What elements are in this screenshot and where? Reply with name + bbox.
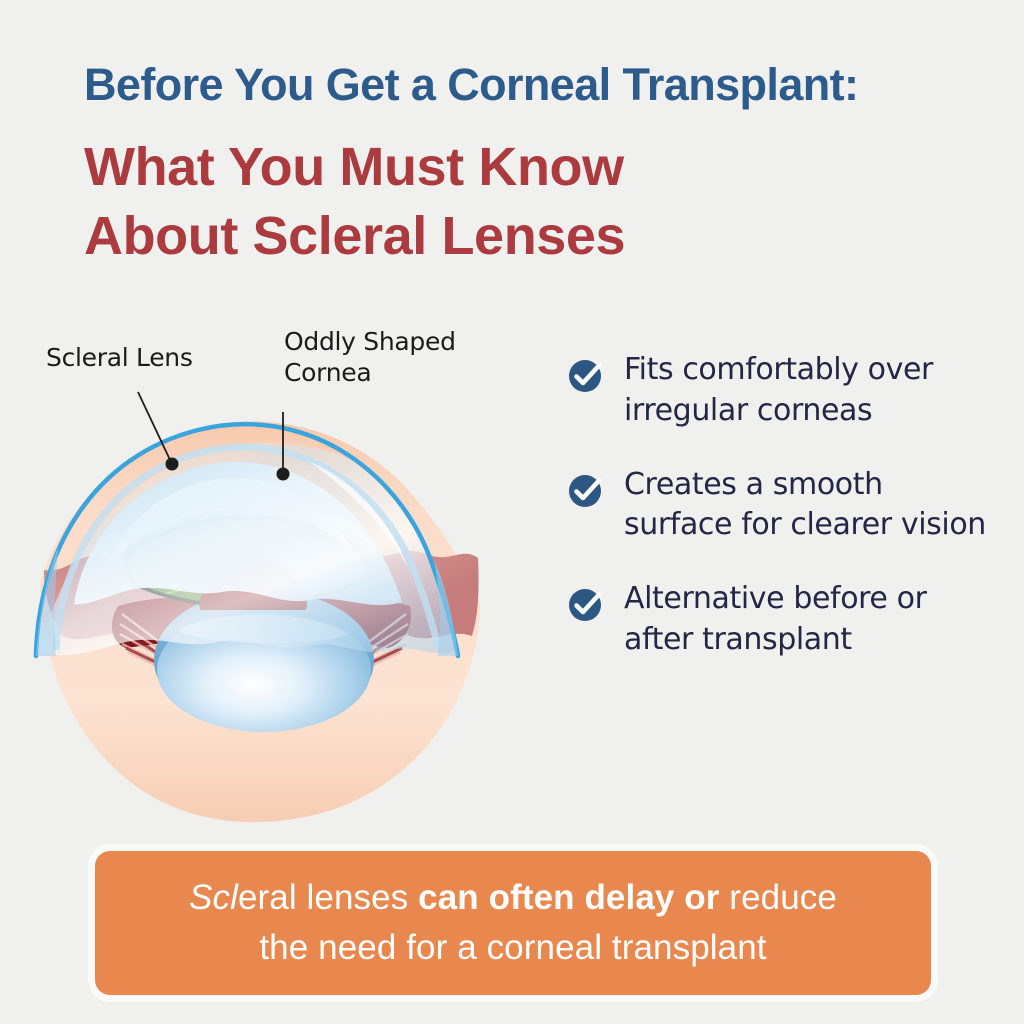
page-title: Before You Get a Corneal Transplant: [84,62,984,107]
label-cornea-line1: Oddly Shaped [284,327,514,358]
check-circle-icon [566,356,606,396]
cta-line1-part4: reduce [719,878,836,917]
page-subtitle-line1: What You Must Know [84,133,984,202]
check-circle-icon [566,585,606,625]
page-subtitle: What You Must Know About Scleral Lenses [84,133,984,271]
cta-text: Scleral lenses can often delay or reduce… [163,873,863,972]
benefit-item-2: Creates a smooth surface for clearer vis… [566,465,986,547]
cta-line-1: Scleral lenses can often delay or reduce [189,873,837,923]
label-cornea-line2: Cornea [284,358,514,389]
cta-banner: Scleral lenses can often delay or reduce… [95,851,931,995]
cta-line1-part1: Scl [189,878,238,917]
benefit-item-1: Fits comfortably over irregular corneas [566,350,986,432]
label-oddly-shaped-cornea: Oddly Shaped Cornea [284,327,514,388]
page-subtitle-line2: About Scleral Lenses [84,202,984,271]
cta-line1-part2: eral lenses [238,878,418,917]
benefits-list: Fits comfortably over irregular corneas … [566,350,986,661]
infographic-canvas: Before You Get a Corneal Transplant: Wha… [0,0,1024,1024]
headline-block: Before You Get a Corneal Transplant: Wha… [84,62,984,271]
benefit-text-1: Fits comfortably over irregular corneas [624,350,986,432]
check-circle-icon [566,471,606,511]
label-scleral-lens: Scleral Lens [46,343,193,374]
benefit-text-3: Alternative before or after transplant [624,579,986,661]
benefit-text-2: Creates a smooth surface for clearer vis… [624,465,986,547]
cta-line-2: the need for a corneal transplant [189,923,837,973]
eye-cross-section-illustration [10,398,550,828]
cta-line1-part3: can often delay or [418,878,719,917]
benefit-item-3: Alternative before or after transplant [566,579,986,661]
